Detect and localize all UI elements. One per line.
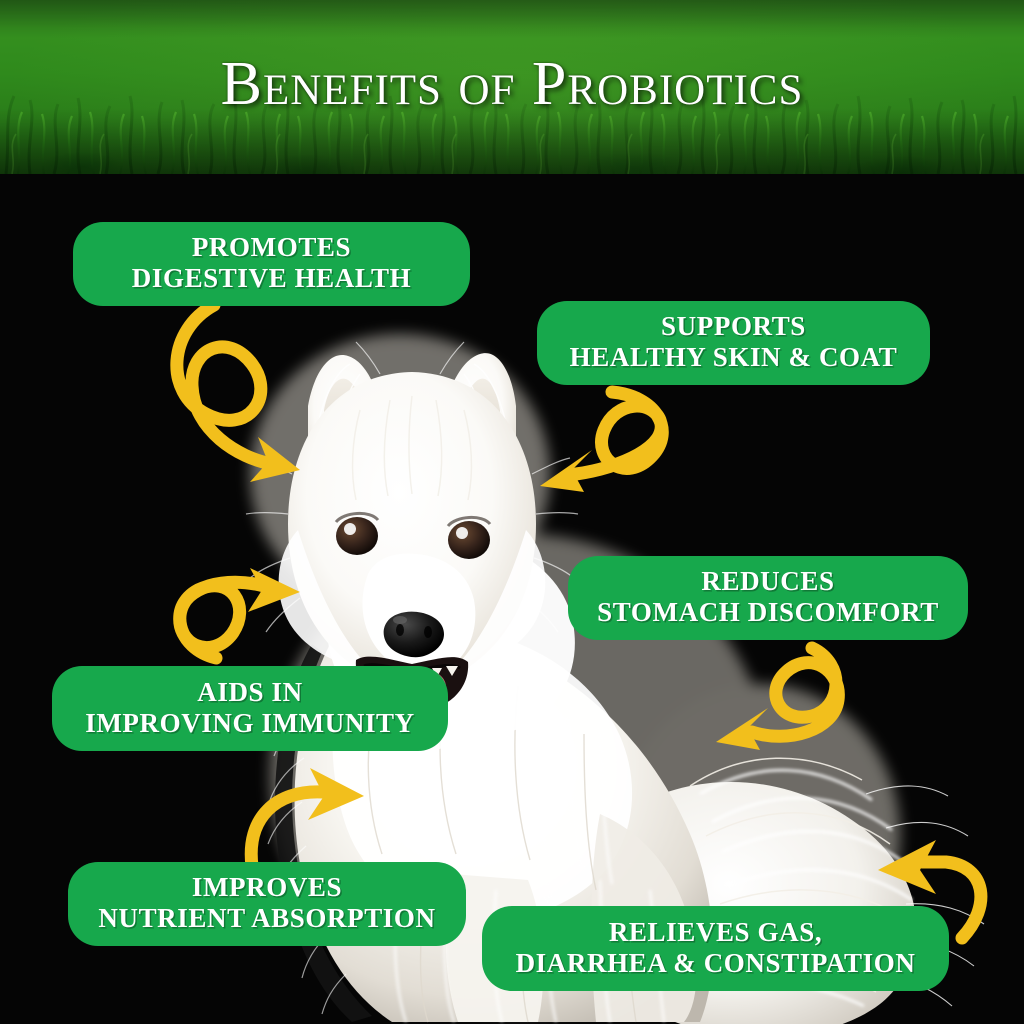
benefit-pill-nutrient[interactable]: IMPROVES NUTRIENT ABSORPTION bbox=[68, 862, 466, 946]
benefit-line1: SUPPORTS bbox=[661, 311, 806, 342]
benefit-pill-skin[interactable]: SUPPORTS HEALTHY SKIN & COAT bbox=[537, 301, 930, 385]
benefit-line2: DIGESTIVE HEALTH bbox=[132, 263, 411, 294]
page-title: Benefits of Probiotics bbox=[0, 0, 1024, 174]
benefit-line2: STOMACH DISCOMFORT bbox=[597, 597, 939, 628]
benefit-line1: PROMOTES bbox=[192, 232, 351, 263]
benefit-pill-stomach[interactable]: REDUCES STOMACH DISCOMFORT bbox=[568, 556, 968, 640]
header-banner: Benefits of Probiotics bbox=[0, 0, 1024, 174]
benefit-line1: REDUCES bbox=[701, 566, 834, 597]
benefit-pill-relieves[interactable]: RELIEVES GAS, DIARRHEA & CONSTIPATION bbox=[482, 906, 949, 991]
benefit-line2: HEALTHY SKIN & COAT bbox=[570, 342, 898, 373]
benefit-line2: DIARRHEA & CONSTIPATION bbox=[516, 948, 916, 979]
benefit-line1: IMPROVES bbox=[192, 872, 342, 903]
benefit-pill-digestive[interactable]: PROMOTES DIGESTIVE HEALTH bbox=[73, 222, 470, 306]
probiotics-benefits-infographic: Benefits of Probiotics bbox=[0, 0, 1024, 1024]
benefit-line1: RELIEVES GAS, bbox=[609, 917, 822, 948]
benefit-pill-immunity[interactable]: AIDS IN IMPROVING IMMUNITY bbox=[52, 666, 448, 751]
benefit-line1: AIDS IN bbox=[197, 677, 302, 708]
benefit-line2: IMPROVING IMMUNITY bbox=[85, 708, 415, 739]
benefit-line2: NUTRIENT ABSORPTION bbox=[98, 903, 435, 934]
